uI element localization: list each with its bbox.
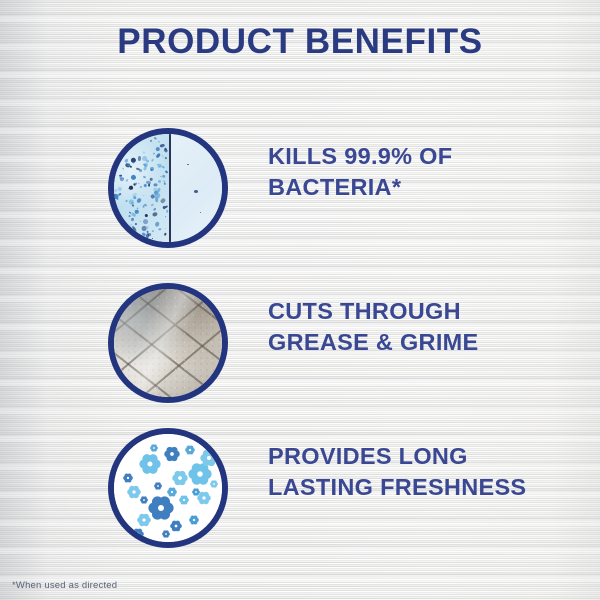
petri-dish-graphic — [114, 134, 222, 242]
flower-icon — [154, 482, 162, 490]
flower-icon — [162, 530, 170, 538]
benefit-text-cuts-grease: CUTS THROUGH GREASE & GRIME — [268, 296, 588, 358]
benefit-line-1: KILLS 99.9% OF — [268, 143, 452, 169]
flower-icon — [164, 446, 180, 462]
flower-icon — [185, 445, 195, 455]
footnote-disclaimer: *When used as directed — [12, 580, 117, 591]
bacteria-petri-dish-icon — [108, 128, 228, 248]
flower-icon — [132, 528, 144, 540]
flower-icon — [179, 495, 189, 505]
benefit-line-2: LASTING FRESHNESS — [268, 472, 588, 503]
flower-icon — [148, 495, 174, 521]
flower-icon — [210, 480, 218, 488]
tile-floor-graphic — [114, 289, 222, 397]
benefit-line-1: CUTS THROUGH — [268, 298, 461, 324]
benefit-line-1: PROVIDES LONG — [268, 443, 468, 469]
clean-half — [170, 134, 222, 242]
flower-icon — [123, 473, 133, 483]
flower-icon — [200, 449, 218, 467]
benefit-text-long-lasting-freshness: PROVIDES LONG LASTING FRESHNESS — [268, 441, 588, 503]
page-title: PRODUCT BENEFITS — [0, 22, 600, 62]
flower-field-graphic — [114, 434, 222, 542]
benefit-row-kills-bacteria: KILLS 99.9% OF BACTERIA* — [0, 128, 600, 258]
benefit-line-2: BACTERIA* — [268, 172, 588, 203]
benefit-row-cuts-grease: CUTS THROUGH GREASE & GRIME — [0, 283, 600, 413]
blue-flowers-icon — [108, 428, 228, 548]
flower-icon — [127, 485, 141, 499]
benefit-text-kills-bacteria: KILLS 99.9% OF BACTERIA* — [268, 141, 588, 203]
benefit-line-2: GREASE & GRIME — [268, 327, 588, 358]
flower-icon — [150, 444, 158, 452]
benefit-row-long-lasting-freshness: PROVIDES LONG LASTING FRESHNESS — [0, 428, 600, 558]
flower-icon — [189, 515, 199, 525]
split-divider — [169, 134, 171, 242]
flower-icon — [167, 487, 177, 497]
tiled-floor-icon — [108, 283, 228, 403]
flower-icon — [172, 470, 188, 486]
flower-icon — [137, 513, 151, 527]
flower-icon — [139, 453, 161, 475]
flower-icon — [192, 488, 200, 496]
product-benefits-poster: PRODUCT BENEFITS KILLS 99.9% OF BACTERIA… — [0, 0, 600, 600]
flower-icon — [140, 496, 148, 504]
flower-icon — [170, 520, 182, 532]
